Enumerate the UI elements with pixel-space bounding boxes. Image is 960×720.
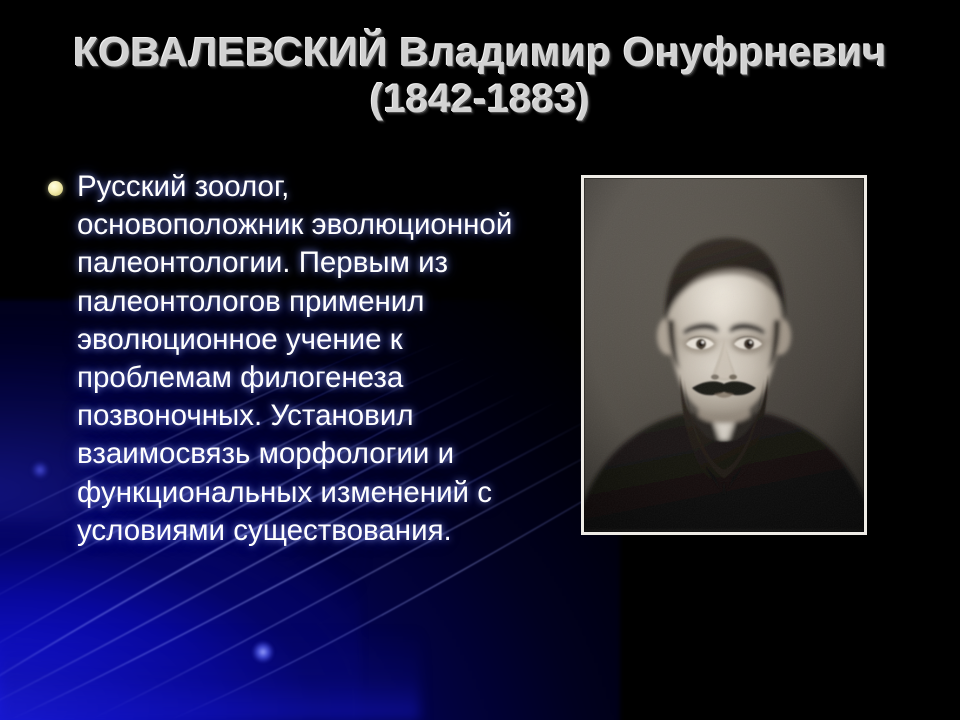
slide-title: КОВАЛЕВСКИЙ Владимир Онуфрневич (1842-18… xyxy=(0,28,960,124)
bullet-dot-icon xyxy=(48,181,63,196)
portrait-frame xyxy=(581,175,867,535)
bullet-list-item: Русский зоолог, основоположник эволюцион… xyxy=(48,168,518,550)
slide-body: Русский зоолог, основоположник эволюцион… xyxy=(48,168,518,550)
bullet-item-text: Русский зоолог, основоположник эволюцион… xyxy=(77,168,518,550)
slide-title-line-2: (1842-1883) xyxy=(0,76,960,123)
portrait-photo xyxy=(584,178,864,532)
slide-title-line-1: КОВАЛЕВСКИЙ Владимир Онуфрневич xyxy=(0,28,960,76)
presentation-slide: КОВАЛЕВСКИЙ Владимир Онуфрневич (1842-18… xyxy=(0,0,960,720)
